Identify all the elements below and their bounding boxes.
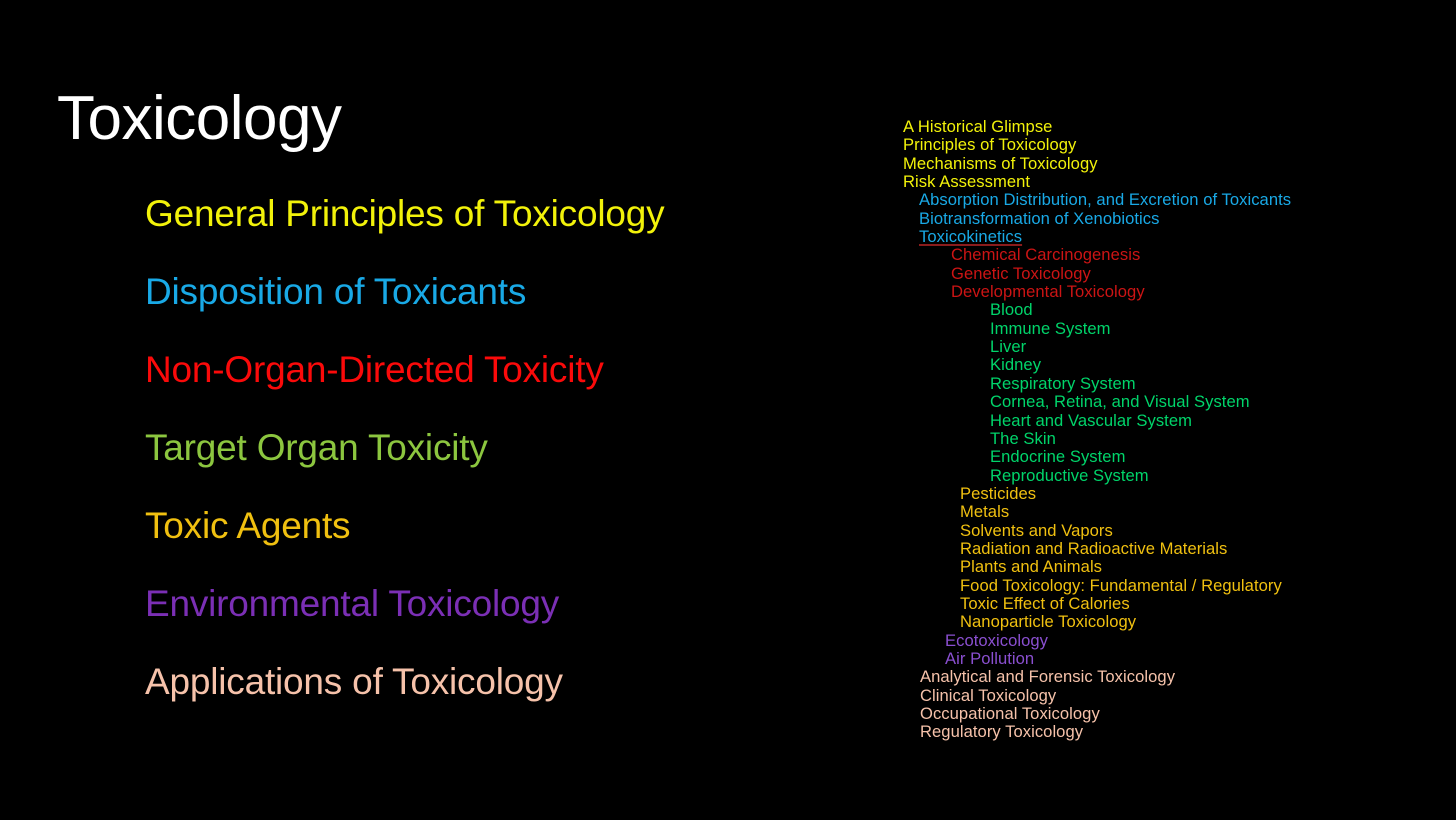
detail-outline-item[interactable]: Mechanisms of Toxicology bbox=[903, 155, 1443, 173]
detail-outline-item[interactable]: Radiation and Radioactive Materials bbox=[903, 540, 1443, 558]
detail-outline-item[interactable]: Liver bbox=[903, 338, 1443, 356]
detail-outline-item[interactable]: Toxicokinetics bbox=[903, 228, 1443, 246]
detail-outline-item[interactable]: Clinical Toxicology bbox=[903, 687, 1443, 705]
detail-outline-item[interactable]: Regulatory Toxicology bbox=[903, 723, 1443, 741]
detail-outline-item[interactable]: Biotransformation of Xenobiotics bbox=[903, 210, 1443, 228]
detail-outline-item[interactable]: Absorption Distribution, and Excretion o… bbox=[903, 191, 1443, 209]
detail-outline-item[interactable]: Metals bbox=[903, 503, 1443, 521]
detail-outline-item[interactable]: A Historical Glimpse bbox=[903, 118, 1443, 136]
detail-outline-item[interactable]: Occupational Toxicology bbox=[903, 705, 1443, 723]
detail-outline-item[interactable]: The Skin bbox=[903, 430, 1443, 448]
detail-outline-item[interactable]: Nanoparticle Toxicology bbox=[903, 613, 1443, 631]
detail-outline-item[interactable]: Blood bbox=[903, 301, 1443, 319]
page-title: Toxicology bbox=[57, 86, 341, 151]
outline-item[interactable]: Disposition of Toxicants bbox=[145, 270, 865, 348]
detail-outline-item[interactable]: Heart and Vascular System bbox=[903, 412, 1443, 430]
detail-outline-item[interactable]: Ecotoxicology bbox=[903, 632, 1443, 650]
detail-outline-item[interactable]: Pesticides bbox=[903, 485, 1443, 503]
detail-outline-item[interactable]: Chemical Carcinogenesis bbox=[903, 246, 1443, 264]
detail-outline-item[interactable]: Analytical and Forensic Toxicology bbox=[903, 668, 1443, 686]
outline-item[interactable]: Target Organ Toxicity bbox=[145, 426, 865, 504]
detail-outline-item[interactable]: Respiratory System bbox=[903, 375, 1443, 393]
detail-outline-item[interactable]: Endocrine System bbox=[903, 448, 1443, 466]
presentation-slide: Toxicology General Principles of Toxicol… bbox=[0, 0, 1456, 820]
detail-outline-item[interactable]: Immune System bbox=[903, 320, 1443, 338]
detail-outline-item[interactable]: Plants and Animals bbox=[903, 558, 1443, 576]
detail-outline-item[interactable]: Genetic Toxicology bbox=[903, 265, 1443, 283]
detail-outline-item[interactable]: Cornea, Retina, and Visual System bbox=[903, 393, 1443, 411]
detail-outline-item[interactable]: Developmental Toxicology bbox=[903, 283, 1443, 301]
outline-item[interactable]: General Principles of Toxicology bbox=[145, 192, 865, 270]
detail-outline-item[interactable]: Principles of Toxicology bbox=[903, 136, 1443, 154]
outline-item[interactable]: Applications of Toxicology bbox=[145, 660, 865, 738]
detail-outline-item[interactable]: Reproductive System bbox=[903, 467, 1443, 485]
outline-item[interactable]: Toxic Agents bbox=[145, 504, 865, 582]
outline-item[interactable]: Non-Organ-Directed Toxicity bbox=[145, 348, 865, 426]
detail-outline-item[interactable]: Risk Assessment bbox=[903, 173, 1443, 191]
detail-outline-item[interactable]: Solvents and Vapors bbox=[903, 522, 1443, 540]
detail-outline-item[interactable]: Air Pollution bbox=[903, 650, 1443, 668]
detailed-outline-list: A Historical GlimpsePrinciples of Toxico… bbox=[903, 118, 1443, 742]
detail-outline-item[interactable]: Toxic Effect of Calories bbox=[903, 595, 1443, 613]
outline-item[interactable]: Environmental Toxicology bbox=[145, 582, 865, 660]
main-outline-list: General Principles of ToxicologyDisposit… bbox=[145, 192, 865, 738]
detail-outline-item[interactable]: Kidney bbox=[903, 356, 1443, 374]
detail-outline-item[interactable]: Food Toxicology: Fundamental / Regulator… bbox=[903, 577, 1443, 595]
